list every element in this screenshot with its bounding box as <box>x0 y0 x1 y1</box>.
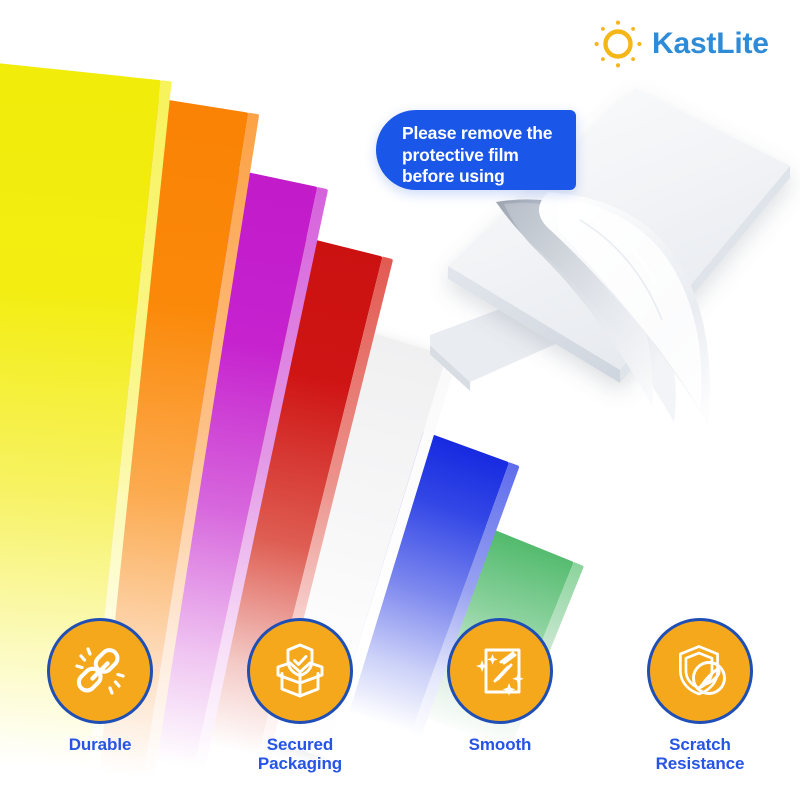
feature-smooth[interactable]: Smooth <box>410 618 590 755</box>
feature-label: Smooth <box>469 735 532 755</box>
brand-logo: KastLite <box>592 18 769 70</box>
feature-label: Durable <box>69 735 132 755</box>
shield-knife-icon <box>668 639 732 703</box>
feature-durable[interactable]: Durable <box>10 618 190 755</box>
feature-badge-row: Durable Secured Packaging <box>0 618 800 774</box>
badge-circle <box>447 618 553 724</box>
sparkling-panel-icon <box>468 639 532 703</box>
product-image-canvas: KastLite Please remove the protective fi… <box>0 0 800 800</box>
badge-circle <box>647 618 753 724</box>
callout-text: Please remove the protective film before… <box>402 123 568 188</box>
feature-secured-packaging[interactable]: Secured Packaging <box>210 618 390 774</box>
badge-circle <box>47 618 153 724</box>
feature-label: Secured Packaging <box>258 735 342 774</box>
sun-icon <box>592 18 644 70</box>
brand-wordmark: KastLite <box>652 29 769 59</box>
feature-label: Scratch Resistance <box>656 735 745 774</box>
feature-scratch-resistance[interactable]: Scratch Resistance <box>610 618 790 774</box>
callout-banner: Please remove the protective film before… <box>376 110 576 190</box>
badge-circle <box>247 618 353 724</box>
shield-box-icon <box>268 639 332 703</box>
chain-link-icon <box>68 639 132 703</box>
